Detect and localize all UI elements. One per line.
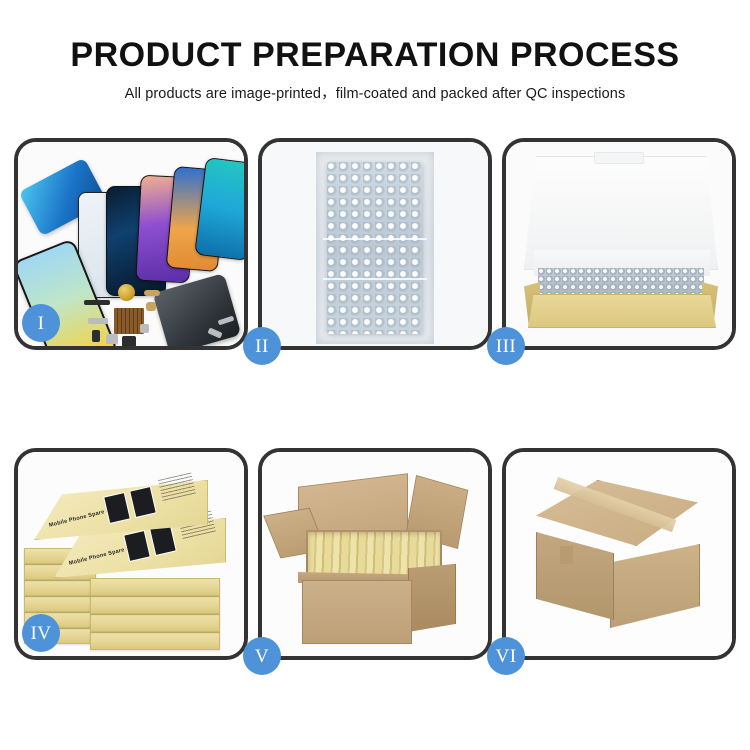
- process-steps-grid: I II III: [14, 138, 736, 660]
- step-badge-1: I: [22, 304, 60, 342]
- part-vibrator: [122, 336, 136, 346]
- page-subtitle: All products are image-printed，film-coat…: [0, 74, 750, 103]
- part-speaker-coil: [118, 284, 135, 301]
- stack-front-3: [90, 596, 220, 614]
- carton-side-panel: [408, 564, 456, 632]
- step-image-sealed-carton: [506, 452, 732, 656]
- box-front-panel: [528, 294, 716, 328]
- step-image-open-carton: [262, 452, 488, 656]
- stack-front-5: [90, 632, 220, 650]
- part-camera-module: [92, 330, 100, 342]
- stack-edge-l2: [24, 580, 96, 596]
- step-image-inner-box: [506, 142, 732, 346]
- sealed-carton-scene: [506, 452, 732, 656]
- stack-front-4: [90, 614, 220, 632]
- step-badge-5: V: [243, 637, 281, 675]
- step-panel-bubble-wrap[interactable]: II: [258, 138, 492, 350]
- stack-edge-l3: [24, 596, 96, 612]
- sealed-carton-side: [610, 544, 700, 628]
- open-carton-scene: [262, 452, 488, 656]
- page-title: PRODUCT PREPARATION PROCESS: [0, 0, 750, 74]
- carton-tab-upper: [560, 546, 573, 564]
- step-panel-stacked-boxes[interactable]: Mobile Phone Spare Parts Mobile Phone Sp…: [14, 448, 248, 660]
- part-bracket-1: [88, 318, 108, 324]
- carton-tab-lower: [562, 594, 574, 606]
- stack-front-2: [90, 578, 220, 596]
- bubble-wrapped-product: [327, 162, 423, 334]
- step-badge-6: VI: [487, 637, 525, 675]
- step-panel-open-carton[interactable]: V: [258, 448, 492, 660]
- step-badge-3: III: [487, 327, 525, 365]
- step-panel-products[interactable]: I: [14, 138, 248, 350]
- wrap-seam-upper: [323, 238, 427, 240]
- step-badge-2: II: [243, 327, 281, 365]
- part-screw-set: [140, 324, 149, 333]
- inner-box-scene: [506, 142, 732, 346]
- part-flex-cable-2: [146, 302, 156, 311]
- page-header: PRODUCT PREPARATION PROCESS All products…: [0, 0, 750, 103]
- part-earpiece: [84, 300, 110, 305]
- step-badge-4: IV: [22, 614, 60, 652]
- part-sim-tray: [106, 334, 118, 344]
- wrap-seam-lower: [323, 278, 427, 280]
- sealed-carton-front: [536, 532, 614, 620]
- box-lid-tab: [594, 152, 644, 164]
- step-panel-inner-box[interactable]: III: [502, 138, 736, 350]
- step-panel-sealed-carton[interactable]: VI: [502, 448, 736, 660]
- carton-front-panel: [302, 580, 412, 644]
- step-image-bubble-wrap: [262, 142, 488, 346]
- part-flex-cable-1: [144, 290, 160, 296]
- bubble-wrap-scene: [262, 142, 488, 346]
